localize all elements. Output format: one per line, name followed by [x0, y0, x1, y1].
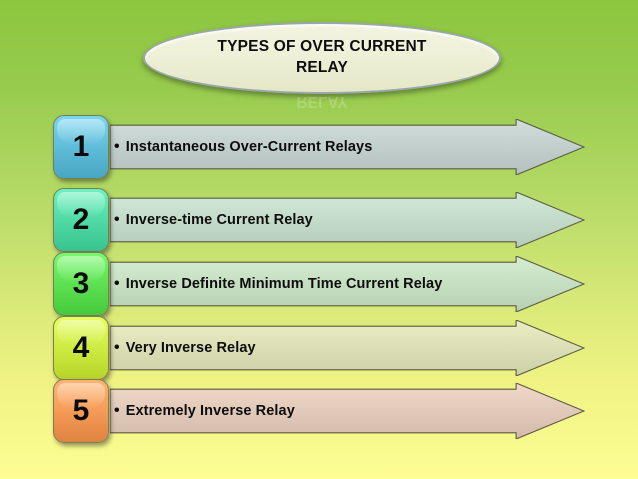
list-item-text-row: • Extremely Inverse Relay	[114, 383, 554, 439]
number-badge-label: 3	[73, 269, 90, 299]
bullet-icon: •	[114, 403, 120, 419]
number-badge-2: 2	[53, 188, 109, 252]
list-item-text-row: • Inverse Definite Minimum Time Current …	[114, 256, 554, 312]
slide-canvas: TYPES OF OVER CURRENT RELAY RELAY • Inst…	[0, 0, 638, 479]
list-item: • Inverse-time Current Relay 2	[0, 188, 638, 252]
title-shape: TYPES OF OVER CURRENT RELAY	[143, 22, 501, 94]
list-item-label: Very Inverse Relay	[126, 340, 256, 356]
bullet-icon: •	[114, 139, 120, 155]
title-ellipse: TYPES OF OVER CURRENT RELAY	[143, 22, 501, 94]
number-badge-label: 2	[73, 205, 90, 235]
list-item-text-row: • Very Inverse Relay	[114, 320, 554, 376]
bullet-icon: •	[114, 276, 120, 292]
list-item-label: Extremely Inverse Relay	[126, 403, 295, 419]
list-item: • Inverse Definite Minimum Time Current …	[0, 252, 638, 316]
number-badge-3: 3	[53, 252, 109, 316]
number-badge-1: 1	[53, 115, 109, 179]
bullet-icon: •	[114, 340, 120, 356]
bullet-icon: •	[114, 212, 120, 228]
list-item: • Very Inverse Relay 4	[0, 316, 638, 380]
list-item-text-row: • Instantaneous Over-Current Relays	[114, 119, 554, 175]
list-item-label: Instantaneous Over-Current Relays	[126, 139, 373, 155]
list-item-label: Inverse-time Current Relay	[126, 212, 313, 228]
list-item: • Instantaneous Over-Current Relays 1	[0, 115, 638, 179]
number-badge-5: 5	[53, 379, 109, 443]
page-title: TYPES OF OVER CURRENT RELAY	[183, 37, 460, 79]
list-item-text-row: • Inverse-time Current Relay	[114, 192, 554, 248]
number-badge-label: 5	[73, 396, 90, 426]
number-badge-label: 4	[73, 333, 90, 363]
list-item-label: Inverse Definite Minimum Time Current Re…	[126, 276, 443, 292]
number-badge-4: 4	[53, 316, 109, 380]
list-item: • Extremely Inverse Relay 5	[0, 379, 638, 443]
number-badge-label: 1	[73, 132, 90, 162]
